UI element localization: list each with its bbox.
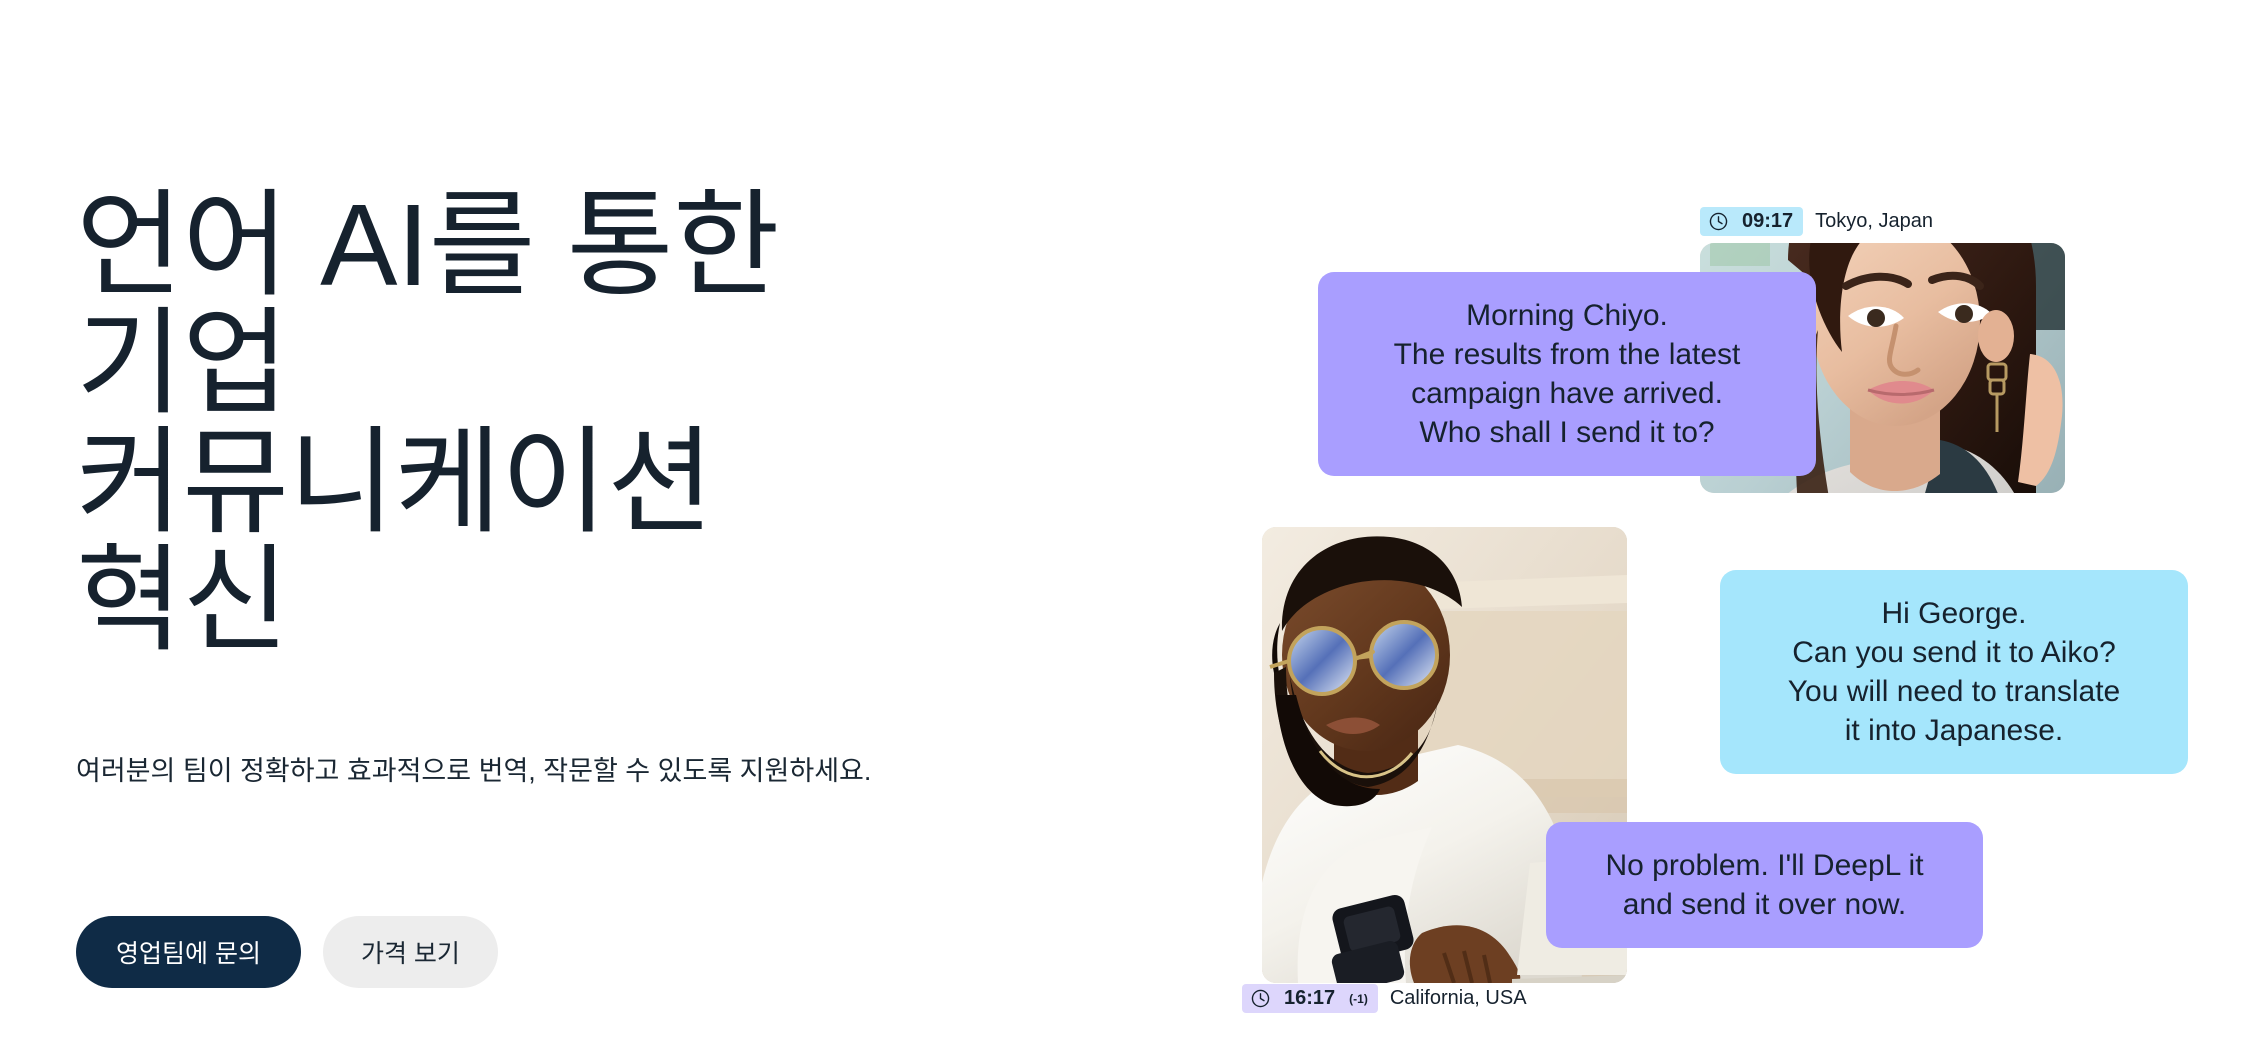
location-label-tokyo: Tokyo, Japan — [1815, 210, 1933, 233]
chat-collage: 09:17 Tokyo, Japan 16:17(-1) California,… — [1230, 0, 2267, 1061]
chat-line: The results from the latest — [1348, 335, 1786, 374]
chat-line: You will need to translate — [1750, 672, 2158, 711]
view-pricing-button[interactable]: 가격 보기 — [323, 916, 498, 988]
chat-line: Morning Chiyo. — [1348, 296, 1786, 335]
time-value-california: 16:17 — [1284, 987, 1335, 1010]
time-value-tokyo: 09:17 — [1742, 210, 1793, 233]
page-title: 언어 AI를 통한 기업 커뮤니케이션 혁신 — [76, 186, 956, 659]
chat-line: Who shall I send it to? — [1348, 413, 1786, 452]
hero-subtitle: 여러분의 팀이 정확하고 효과적으로 번역, 작문할 수 있도록 지원하세요. — [76, 752, 976, 790]
chat-line: Can you send it to Aiko? — [1750, 633, 2158, 672]
cta-button-row: 영업팀에 문의 가격 보기 — [76, 916, 498, 988]
chat-line: Hi George. — [1750, 594, 2158, 633]
time-badge-california: 16:17(-1) California, USA — [1242, 984, 1527, 1013]
location-label-california: California, USA — [1390, 987, 1527, 1010]
time-chip-tokyo: 09:17 — [1700, 207, 1803, 236]
chat-bubble-morning-chiyo: Morning Chiyo. The results from the late… — [1318, 272, 1816, 476]
clock-icon — [1708, 211, 1729, 232]
chat-bubble-hi-george: Hi George. Can you send it to Aiko? You … — [1720, 570, 2188, 774]
chat-line: and send it over now. — [1576, 885, 1953, 924]
clock-icon — [1250, 988, 1271, 1009]
time-offset-california: (-1) — [1349, 992, 1368, 1006]
chat-line: campaign have arrived. — [1348, 374, 1786, 413]
contact-sales-button[interactable]: 영업팀에 문의 — [76, 916, 301, 988]
chat-line: it into Japanese. — [1750, 711, 2158, 750]
chat-line: No problem. I'll DeepL it — [1576, 846, 1953, 885]
time-chip-california: 16:17(-1) — [1242, 984, 1378, 1013]
hero-page: 언어 AI를 통한 기업 커뮤니케이션 혁신 여러분의 팀이 정확하고 효과적으… — [0, 0, 2267, 1061]
chat-bubble-no-problem: No problem. I'll DeepL it and send it ov… — [1546, 822, 1983, 948]
hero-copy-block: 언어 AI를 통한 기업 커뮤니케이션 혁신 — [76, 186, 1076, 659]
time-badge-tokyo: 09:17 Tokyo, Japan — [1700, 207, 1933, 236]
